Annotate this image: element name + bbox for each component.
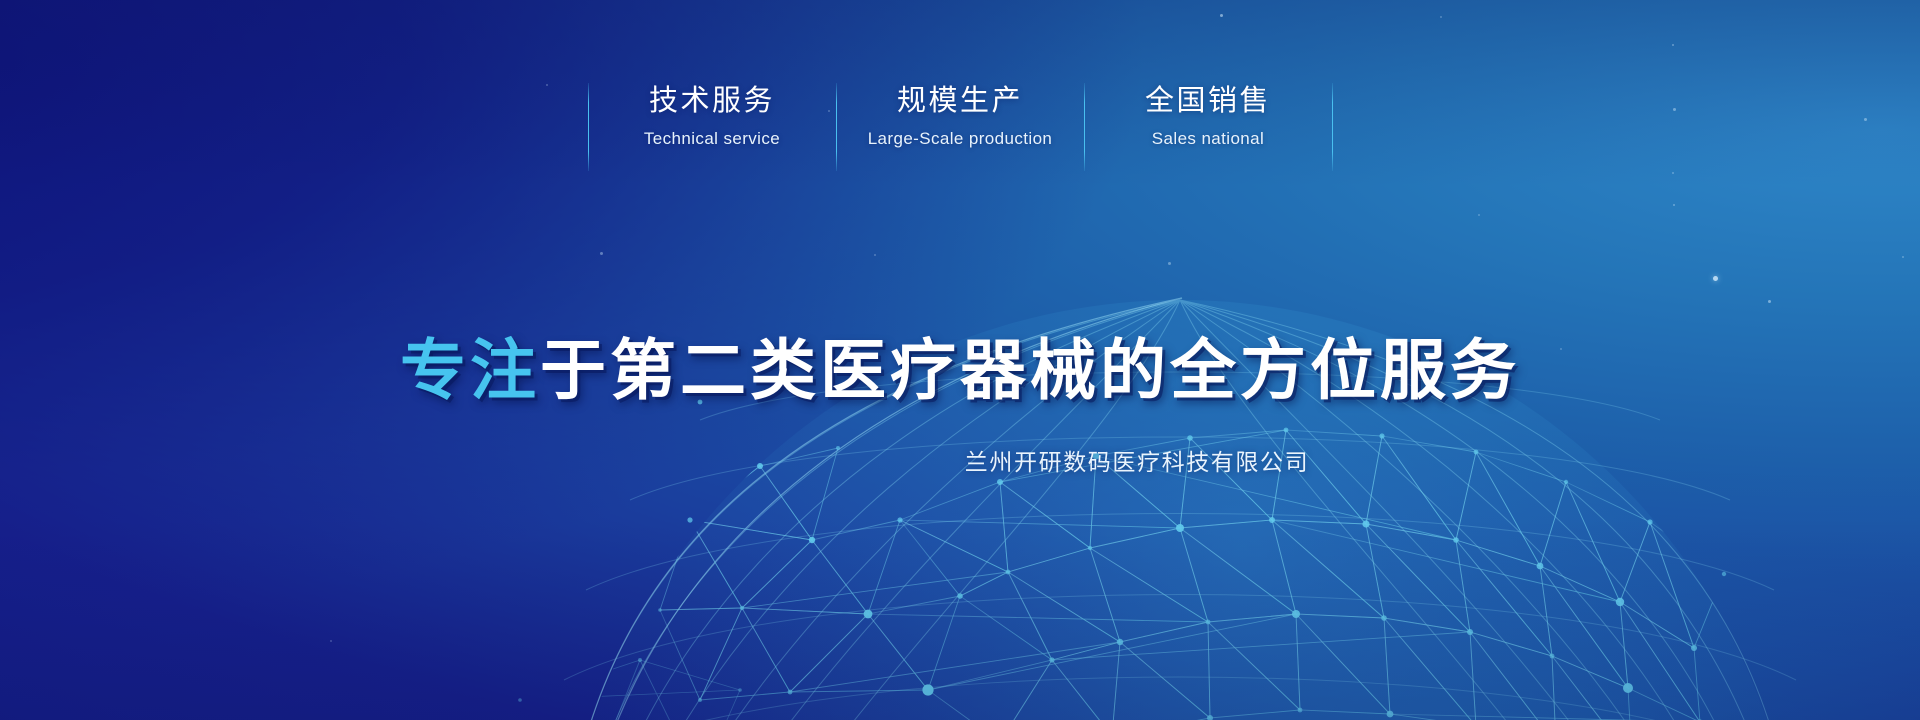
feature-title-cn: 规模生产 bbox=[847, 83, 1074, 120]
feature-item-large-scale-production[interactable]: 规模生产 Large-Scale production bbox=[837, 83, 1084, 171]
feature-title-en: Technical service bbox=[599, 129, 826, 149]
headline-block: 专注于第二类医疗器械的全方位服务 bbox=[0, 336, 1920, 406]
feature-list: 技术服务 Technical service 规模生产 Large-Scale … bbox=[588, 83, 1333, 171]
feature-bar: 技术服务 Technical service 规模生产 Large-Scale … bbox=[0, 0, 1920, 230]
company-name-row: 兰州开研数码医疗科技有限公司 bbox=[0, 443, 1920, 477]
feature-item-sales-national[interactable]: 全国销售 Sales national bbox=[1085, 83, 1332, 171]
feature-divider-right bbox=[1332, 83, 1333, 171]
company-name: 兰州开研数码医疗科技有限公司 bbox=[611, 443, 1309, 477]
feature-title-en: Sales national bbox=[1095, 129, 1322, 149]
feature-title-en: Large-Scale production bbox=[847, 129, 1074, 149]
headline-main-text: 于第二类医疗器械的全方位服务 bbox=[540, 333, 1520, 407]
feature-title-cn: 技术服务 bbox=[599, 83, 826, 120]
hero-headline: 专注于第二类医疗器械的全方位服务 bbox=[0, 336, 1920, 406]
headline-accent-text: 专注 bbox=[400, 333, 540, 407]
hero-banner: 技术服务 Technical service 规模生产 Large-Scale … bbox=[0, 0, 1920, 720]
feature-title-cn: 全国销售 bbox=[1095, 83, 1322, 120]
feature-item-technical-service[interactable]: 技术服务 Technical service bbox=[589, 83, 836, 171]
